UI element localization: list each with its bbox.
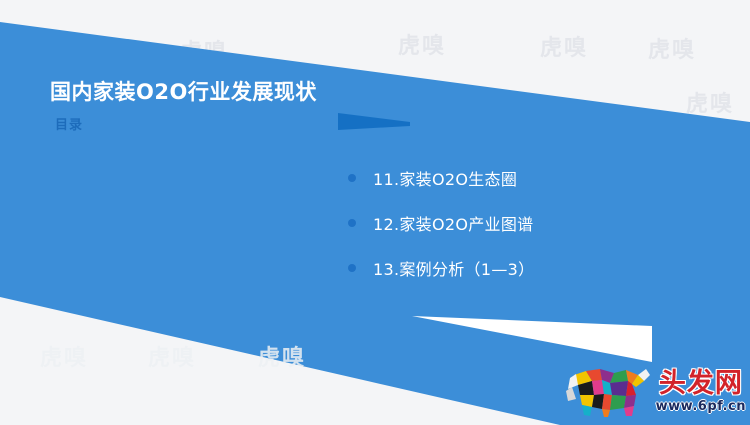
toc-item-label: 11.家装O2O生态圈 bbox=[373, 166, 517, 190]
slide-canvas: 虎嗅 虎嗅 虎嗅 虎嗅 虎嗅 虎嗅 虎嗅 虎嗅 国内家装O2O行业发展现状 目录… bbox=[0, 0, 750, 425]
title-block: 国内家装O2O行业发展现状 目录 bbox=[50, 80, 317, 133]
logo-brand-name: 头发网 bbox=[659, 370, 743, 397]
bullet-dot-icon bbox=[348, 219, 356, 227]
site-logo[interactable]: 头发网 www.6pf.cn bbox=[566, 363, 746, 419]
table-of-contents: 11.家装O2O生态圈 12.家装O2O产业图谱 13.案例分析（1—3） bbox=[348, 155, 534, 290]
logo-text-block: 头发网 www.6pf.cn bbox=[656, 370, 746, 413]
watermark-text: 虎嗅 bbox=[540, 30, 588, 62]
watermark-text: 虎嗅 bbox=[648, 32, 696, 64]
list-item[interactable]: 11.家装O2O生态圈 bbox=[348, 155, 534, 200]
page-subtitle: 目录 bbox=[55, 114, 317, 133]
list-item[interactable]: 13.案例分析（1—3） bbox=[348, 245, 534, 290]
watermark-text: 虎嗅 bbox=[398, 28, 446, 60]
polygonal-bull-icon bbox=[566, 365, 654, 417]
bullet-dot-icon bbox=[348, 174, 356, 182]
page-title: 国内家装O2O行业发展现状 bbox=[50, 80, 317, 105]
toc-item-label: 13.案例分析（1—3） bbox=[373, 256, 534, 280]
watermark-text: 虎嗅 bbox=[686, 86, 734, 118]
bullet-dot-icon bbox=[348, 264, 356, 272]
logo-url: www.6pf.cn bbox=[656, 400, 746, 413]
list-item[interactable]: 12.家装O2O产业图谱 bbox=[348, 200, 534, 245]
toc-item-label: 12.家装O2O产业图谱 bbox=[373, 211, 533, 235]
watermark-text: 虎嗅 bbox=[40, 340, 88, 372]
watermark-text: 虎嗅 bbox=[148, 340, 196, 372]
